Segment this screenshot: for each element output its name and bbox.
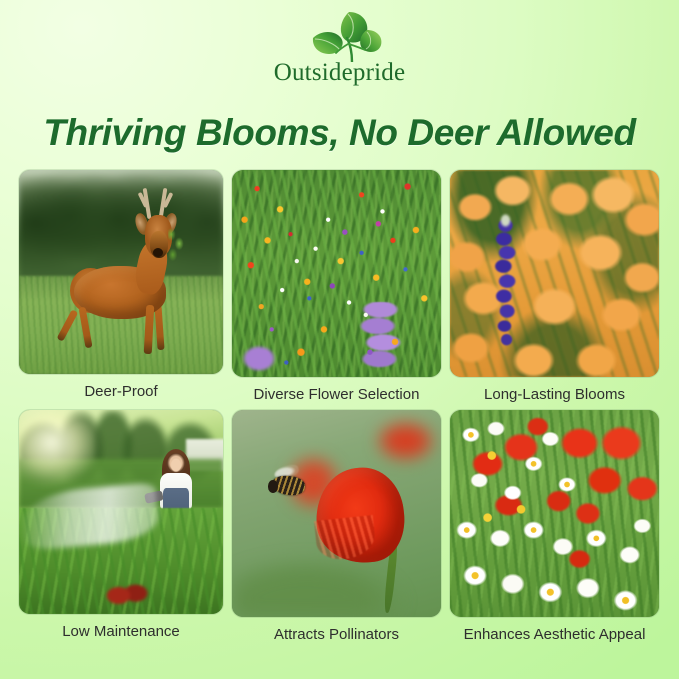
- leaf-sprig-icon: [297, 8, 383, 62]
- feature-image-low-maintenance: [19, 410, 223, 614]
- feature-image-enhances-aesthetic-appeal: [450, 410, 659, 617]
- lupine-tip: [498, 211, 513, 230]
- garden-red-chard: [105, 581, 150, 610]
- feature-image-diverse-flower-selection: [232, 170, 441, 377]
- feature-card-attracts-pollinators: Attracts Pollinators: [232, 410, 441, 644]
- feature-image-long-lasting-blooms: [450, 170, 659, 377]
- feature-caption: Long-Lasting Blooms: [484, 386, 625, 404]
- brand-header: Outsidepride: [0, 8, 679, 104]
- feature-caption: Diverse Flower Selection: [254, 386, 420, 404]
- feature-card-low-maintenance: Low Maintenance: [19, 410, 223, 644]
- lupine-spike: [492, 220, 519, 357]
- infographic-poster: Outsidepride Thriving Blooms, No Deer Al…: [0, 0, 679, 679]
- daisy-centers: [450, 410, 659, 617]
- bee-head: [268, 480, 278, 492]
- feature-image-attracts-pollinators: [232, 410, 441, 617]
- deer-nose: [153, 248, 163, 257]
- wildflower-blooms: [232, 170, 441, 377]
- orange-poppy-blooms: [450, 170, 659, 377]
- brand-name: Outsidepride: [274, 60, 406, 85]
- feature-grid: Deer-Proof Diverse Flower Selection: [19, 170, 660, 644]
- deer-foliage-sprig: [168, 227, 184, 264]
- feature-caption: Low Maintenance: [62, 623, 180, 641]
- page-title: Thriving Blooms, No Deer Allowed: [0, 112, 679, 154]
- background-poppy-blur-right: [366, 414, 441, 468]
- feature-caption: Deer-Proof: [84, 383, 157, 401]
- feature-caption: Enhances Aesthetic Appeal: [464, 626, 646, 644]
- feature-image-deer-proof: [19, 170, 223, 374]
- feature-card-deer-proof: Deer-Proof: [19, 170, 223, 404]
- feature-card-enhances-aesthetic-appeal: Enhances Aesthetic Appeal: [450, 410, 659, 644]
- feature-card-long-lasting-blooms: Long-Lasting Blooms: [450, 170, 659, 404]
- feature-caption: Attracts Pollinators: [274, 626, 399, 644]
- feature-card-diverse-flower-selection: Diverse Flower Selection: [232, 170, 441, 404]
